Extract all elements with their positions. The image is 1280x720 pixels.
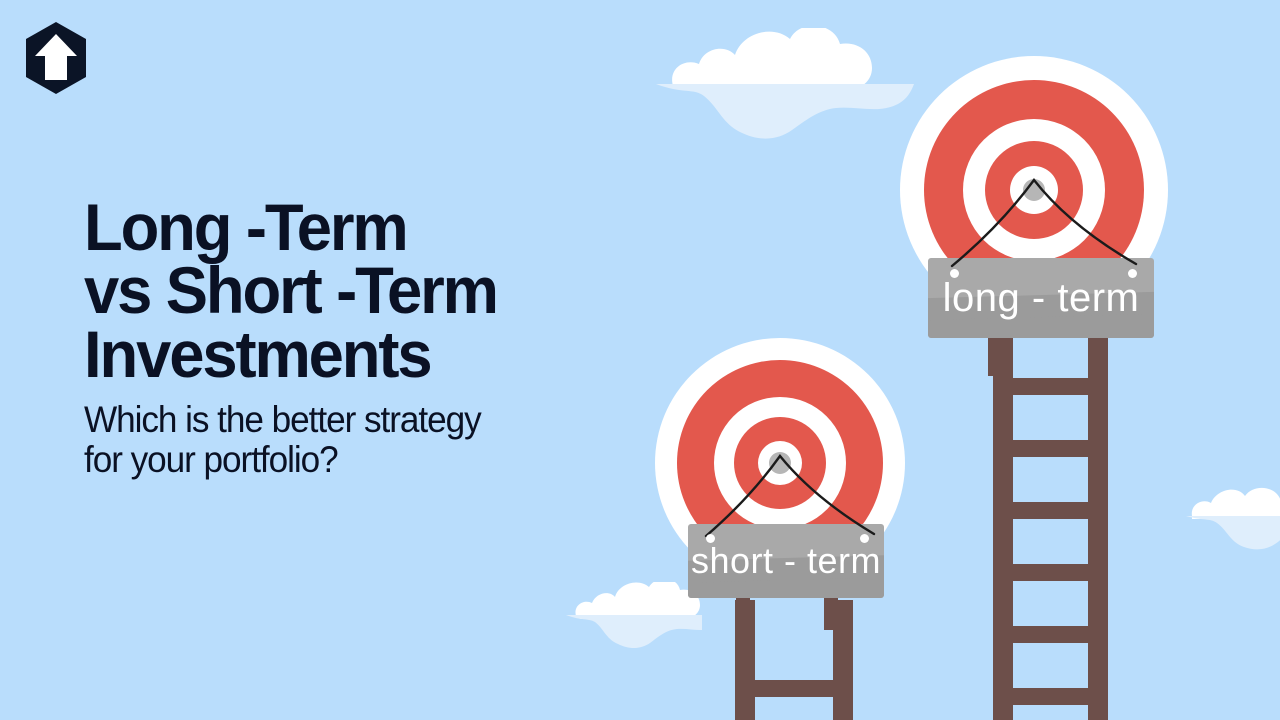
target-long-center-dot xyxy=(1023,179,1045,201)
headline-line-2: vs Short -Term xyxy=(84,259,679,322)
page-subtitle: Which is the better strategy for your po… xyxy=(84,400,673,480)
sign-hole-long-left xyxy=(950,269,959,278)
brand-logo[interactable] xyxy=(20,20,92,96)
sign-post-long-right xyxy=(1088,336,1102,376)
cloud-bottom-left xyxy=(562,582,702,652)
headline-block: Long -Term vs Short -Term Investments Wh… xyxy=(84,196,704,480)
sign-post-short-left xyxy=(736,596,750,630)
cloud-right-edge-shape xyxy=(1186,478,1280,558)
cloud-bottom-left-shape xyxy=(562,582,702,652)
sign-hole-short-left xyxy=(706,534,715,543)
page-title: Long -Term vs Short -Term Investments xyxy=(84,196,679,386)
sign-label-long-term: long - term xyxy=(928,258,1154,338)
cloud-right-edge xyxy=(1186,478,1280,558)
ladder-long-rung xyxy=(993,502,1108,519)
sign-group-short-term: short - term xyxy=(688,524,884,624)
hexagon-up-arrow-logo-icon xyxy=(20,20,92,96)
headline-line-3: Investments xyxy=(84,323,679,386)
sign-label-short-term: short - term xyxy=(688,524,884,598)
ladder-long-term xyxy=(993,336,1108,720)
sign-board-long-term[interactable]: long - term xyxy=(928,258,1154,338)
headline-line-1: Long -Term xyxy=(84,196,679,259)
ladder-long-rung xyxy=(993,564,1108,581)
sign-post-long-left xyxy=(988,336,1002,376)
subhead-line-1: Which is the better strategy xyxy=(84,400,673,440)
cloud-top-shape xyxy=(640,28,915,158)
sign-hole-long-right xyxy=(1128,269,1137,278)
sign-hole-short-right xyxy=(860,534,869,543)
target-short-center-dot xyxy=(769,452,791,474)
ladder-short-rung xyxy=(735,680,853,697)
cloud-top xyxy=(640,28,915,158)
ladder-long-rung xyxy=(993,626,1108,643)
sign-board-short-term[interactable]: short - term xyxy=(688,524,884,598)
sign-group-long-term: long - term xyxy=(928,258,1154,368)
sign-post-short-right xyxy=(824,596,838,630)
ladder-long-rung xyxy=(993,688,1108,705)
ladder-long-rung xyxy=(993,378,1108,395)
ladder-long-rung xyxy=(993,440,1108,457)
poster-canvas: long - term short - term xyxy=(0,0,1280,720)
subhead-line-2: for your portfolio? xyxy=(84,440,673,480)
